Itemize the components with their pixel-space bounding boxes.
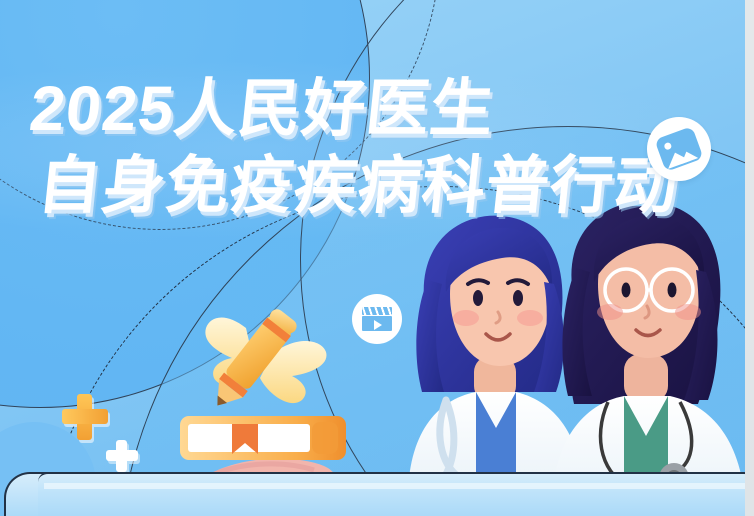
desk-top-surface <box>38 472 754 516</box>
desk-counter <box>38 462 754 516</box>
poster-canvas: 2025人民好医生 自身免疫疾病科普行动 <box>0 0 754 516</box>
clapperboard-shape <box>362 307 392 331</box>
plus-mark-orange <box>62 394 108 440</box>
play-triangle-icon <box>374 320 382 330</box>
headline-line-2: 自身免疫疾病科普行动 <box>35 155 682 218</box>
headline-line-1: 2025人民好医生 <box>27 78 682 141</box>
open-book <box>180 414 346 462</box>
sun-dot-icon <box>663 142 672 151</box>
image-photo-icon[interactable] <box>647 117 711 181</box>
photo-frame-shape <box>654 126 703 172</box>
page-title: 2025人民好医生 自身免疫疾病科普行动 <box>30 78 678 218</box>
desk-highlight-lip <box>44 483 748 489</box>
clapper-top-bar <box>362 307 392 315</box>
page-edge-strip <box>745 0 754 516</box>
video-clapperboard-icon[interactable] <box>352 294 402 344</box>
